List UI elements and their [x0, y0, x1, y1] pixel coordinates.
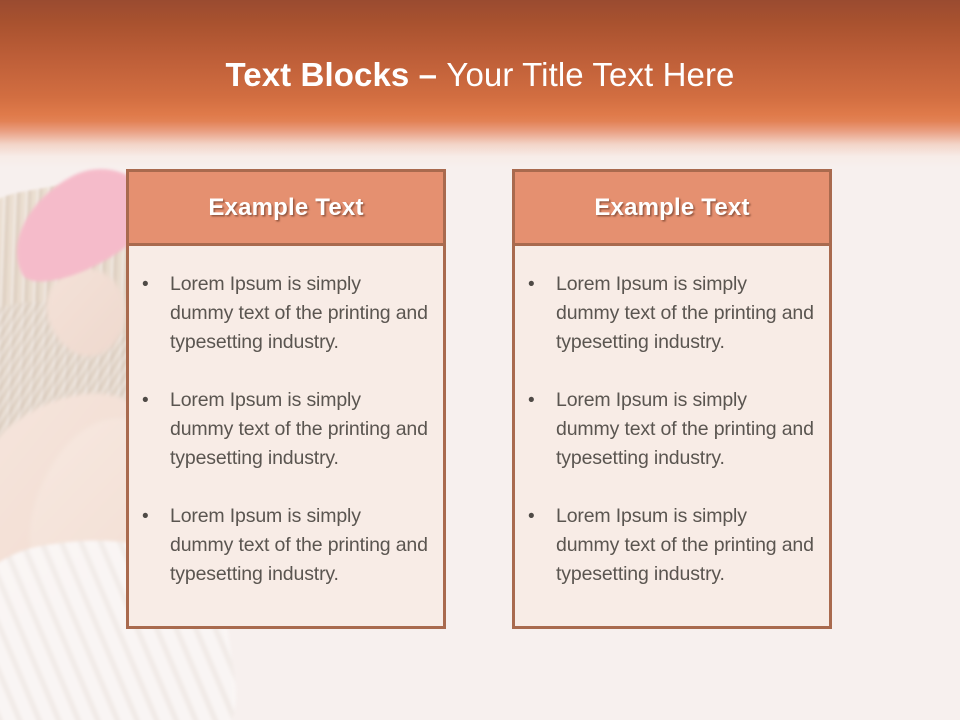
bullet-icon: •: [138, 270, 170, 299]
card-right-header-title: Example Text: [594, 194, 749, 222]
list-item: • Lorem Ipsum is simply dummy text of th…: [138, 502, 429, 589]
card-left-header: Example Text: [129, 172, 443, 246]
list-item: • Lorem Ipsum is simply dummy text of th…: [138, 270, 429, 357]
text-block-card-right[interactable]: Example Text • Lorem Ipsum is simply dum…: [512, 169, 832, 629]
card-left-header-title: Example Text: [208, 194, 363, 222]
page-title-regular-part: Your Title Text Here: [446, 56, 734, 93]
list-item: • Lorem Ipsum is simply dummy text of th…: [138, 386, 429, 473]
card-left-body: • Lorem Ipsum is simply dummy text of th…: [129, 246, 443, 589]
list-item: • Lorem Ipsum is simply dummy text of th…: [524, 502, 815, 589]
card-right-body: • Lorem Ipsum is simply dummy text of th…: [515, 246, 829, 589]
list-item-text: Lorem Ipsum is simply dummy text of the …: [556, 502, 815, 589]
list-item: • Lorem Ipsum is simply dummy text of th…: [524, 386, 815, 473]
bullet-icon: •: [138, 386, 170, 415]
bullet-icon: •: [138, 502, 170, 531]
page-title: Text Blocks – Your Title Text Here: [0, 54, 960, 96]
bullet-icon: •: [524, 270, 556, 299]
page-title-bold-part: Text Blocks –: [225, 56, 446, 93]
card-right-header: Example Text: [515, 172, 829, 246]
list-item-text: Lorem Ipsum is simply dummy text of the …: [556, 386, 815, 473]
text-block-card-left[interactable]: Example Text • Lorem Ipsum is simply dum…: [126, 169, 446, 629]
slide-canvas: Text Blocks – Your Title Text Here Examp…: [0, 0, 960, 720]
list-item-text: Lorem Ipsum is simply dummy text of the …: [170, 270, 429, 357]
list-item: • Lorem Ipsum is simply dummy text of th…: [524, 270, 815, 357]
list-item-text: Lorem Ipsum is simply dummy text of the …: [170, 386, 429, 473]
bullet-icon: •: [524, 386, 556, 415]
list-item-text: Lorem Ipsum is simply dummy text of the …: [556, 270, 815, 357]
list-item-text: Lorem Ipsum is simply dummy text of the …: [170, 502, 429, 589]
bullet-icon: •: [524, 502, 556, 531]
